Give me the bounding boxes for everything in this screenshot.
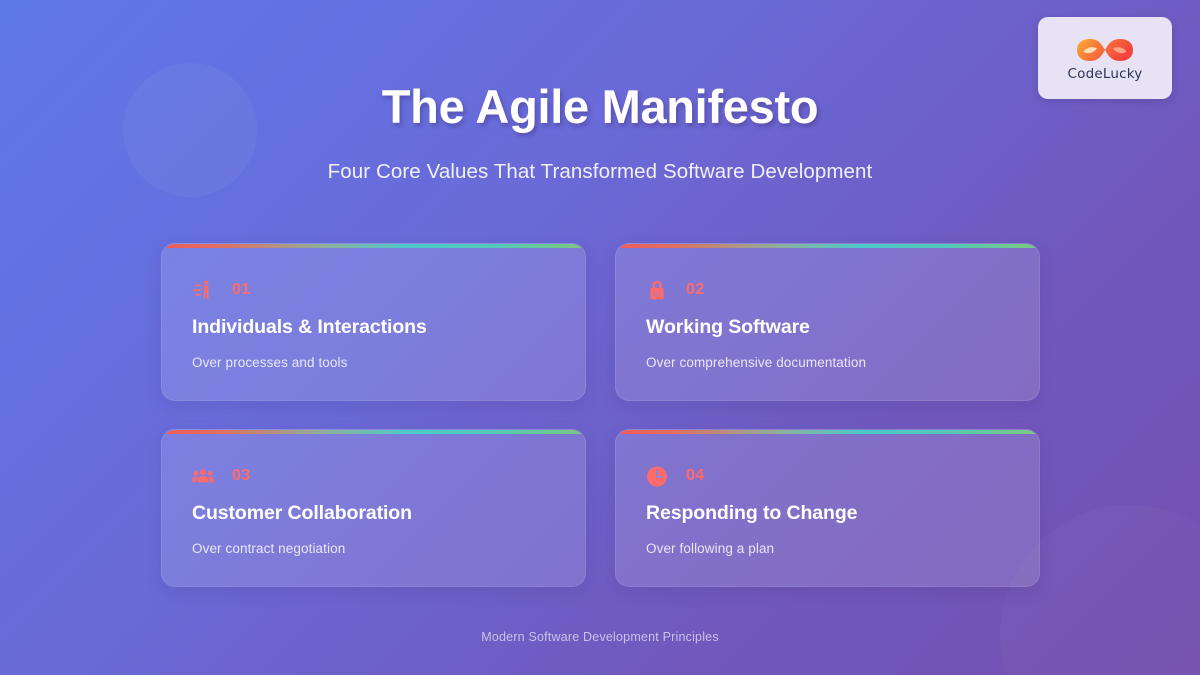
page-subtitle: Four Core Values That Transformed Softwa… [0, 160, 1200, 184]
infinity-logo-icon [1074, 35, 1136, 65]
page-title: The Agile Manifesto [0, 82, 1200, 131]
card-title: Customer Collaboration [192, 502, 555, 525]
slide-root: CodeLucky The Agile Manifesto Four Core … [0, 0, 1200, 675]
footer-text: Modern Software Development Principles [0, 630, 1200, 644]
card-title: Individuals & Interactions [192, 316, 555, 339]
value-card-3[interactable]: 03 Customer Collaboration Over contract … [161, 429, 586, 587]
brand-name: CodeLucky [1068, 66, 1143, 82]
lock-icon [646, 279, 668, 301]
values-grid: 01 Individuals & Interactions Over proce… [161, 243, 1040, 587]
users-group-icon [192, 465, 214, 487]
card-description: Over processes and tools [192, 355, 555, 370]
card-title: Working Software [646, 316, 1009, 339]
card-number: 04 [686, 467, 705, 485]
card-header: 03 [192, 464, 555, 488]
card-accent-bar [616, 244, 1039, 248]
card-description: Over following a plan [646, 541, 1009, 556]
card-header: 04 [646, 464, 1009, 488]
card-number: 01 [232, 281, 251, 299]
value-card-2[interactable]: 02 Working Software Over comprehensive d… [615, 243, 1040, 401]
card-number: 02 [686, 281, 705, 299]
card-accent-bar [162, 430, 585, 434]
header: The Agile Manifesto Four Core Values Tha… [0, 82, 1200, 184]
value-card-4[interactable]: 04 Responding to Change Over following a… [615, 429, 1040, 587]
card-header: 02 [646, 278, 1009, 302]
card-description: Over comprehensive documentation [646, 355, 1009, 370]
card-accent-bar [616, 430, 1039, 434]
card-title: Responding to Change [646, 502, 1009, 525]
clock-icon [646, 465, 668, 487]
card-number: 03 [232, 467, 251, 485]
person-running-icon [192, 279, 214, 301]
value-card-1[interactable]: 01 Individuals & Interactions Over proce… [161, 243, 586, 401]
card-accent-bar [162, 244, 585, 248]
card-header: 01 [192, 278, 555, 302]
card-description: Over contract negotiation [192, 541, 555, 556]
